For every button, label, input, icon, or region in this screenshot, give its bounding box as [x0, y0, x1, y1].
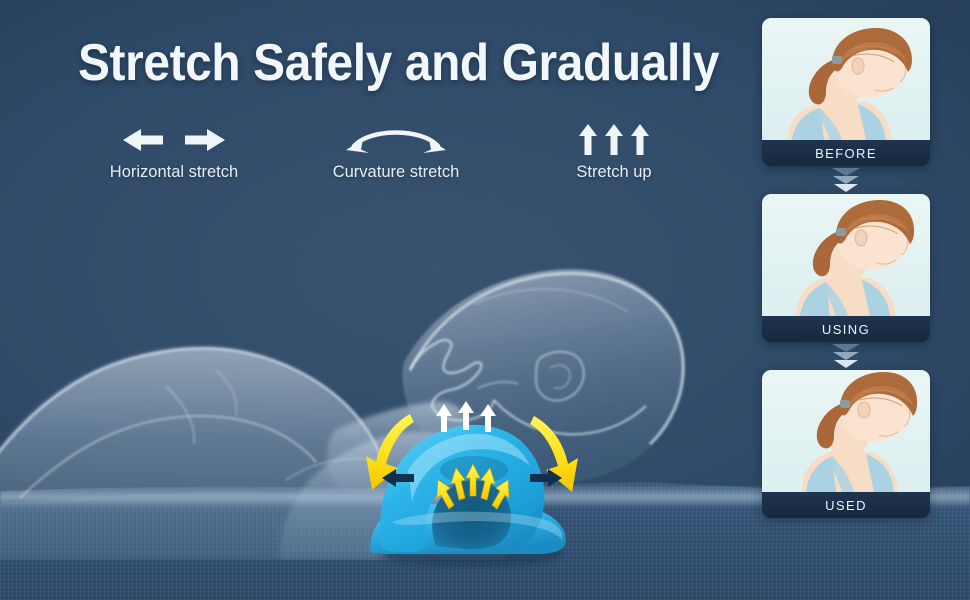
curved-double-arrow-icon — [286, 118, 506, 162]
feature-curvature-stretch: Curvature stretch — [286, 118, 506, 182]
posture-illustration-used — [762, 370, 930, 492]
feature-stretch-up: Stretch up — [504, 118, 724, 182]
feature-row: Horizontal stretch Curvature stretch — [64, 118, 724, 208]
posture-illustration-before — [762, 18, 930, 140]
step-card-used[interactable]: USED — [762, 370, 930, 518]
feature-label: Curvature stretch — [286, 162, 506, 182]
feature-label: Horizontal stretch — [64, 162, 284, 182]
step-label-before: BEFORE — [762, 140, 930, 166]
product-infographic: Stretch Safely and Gradually Horizontal … — [0, 0, 970, 600]
triple-chevron-down-icon — [762, 166, 930, 194]
page-title: Stretch Safely and Gradually — [78, 33, 719, 93]
pillow-top-up-arrows — [436, 401, 496, 432]
three-up-arrows-icon — [504, 118, 724, 162]
step-label-used: USED — [762, 492, 930, 518]
left-right-arrows-icon — [64, 118, 284, 162]
step-card-using[interactable]: USING — [762, 194, 930, 342]
triple-chevron-down-icon — [762, 342, 930, 370]
feature-horizontal-stretch: Horizontal stretch — [64, 118, 284, 182]
posture-illustration-using — [762, 194, 930, 316]
step-card-before[interactable]: BEFORE — [762, 18, 930, 166]
cervical-traction-pillow — [352, 398, 592, 568]
feature-label: Stretch up — [504, 162, 724, 182]
before-using-used-column: BEFORE — [762, 18, 932, 518]
step-label-using: USING — [762, 316, 930, 342]
